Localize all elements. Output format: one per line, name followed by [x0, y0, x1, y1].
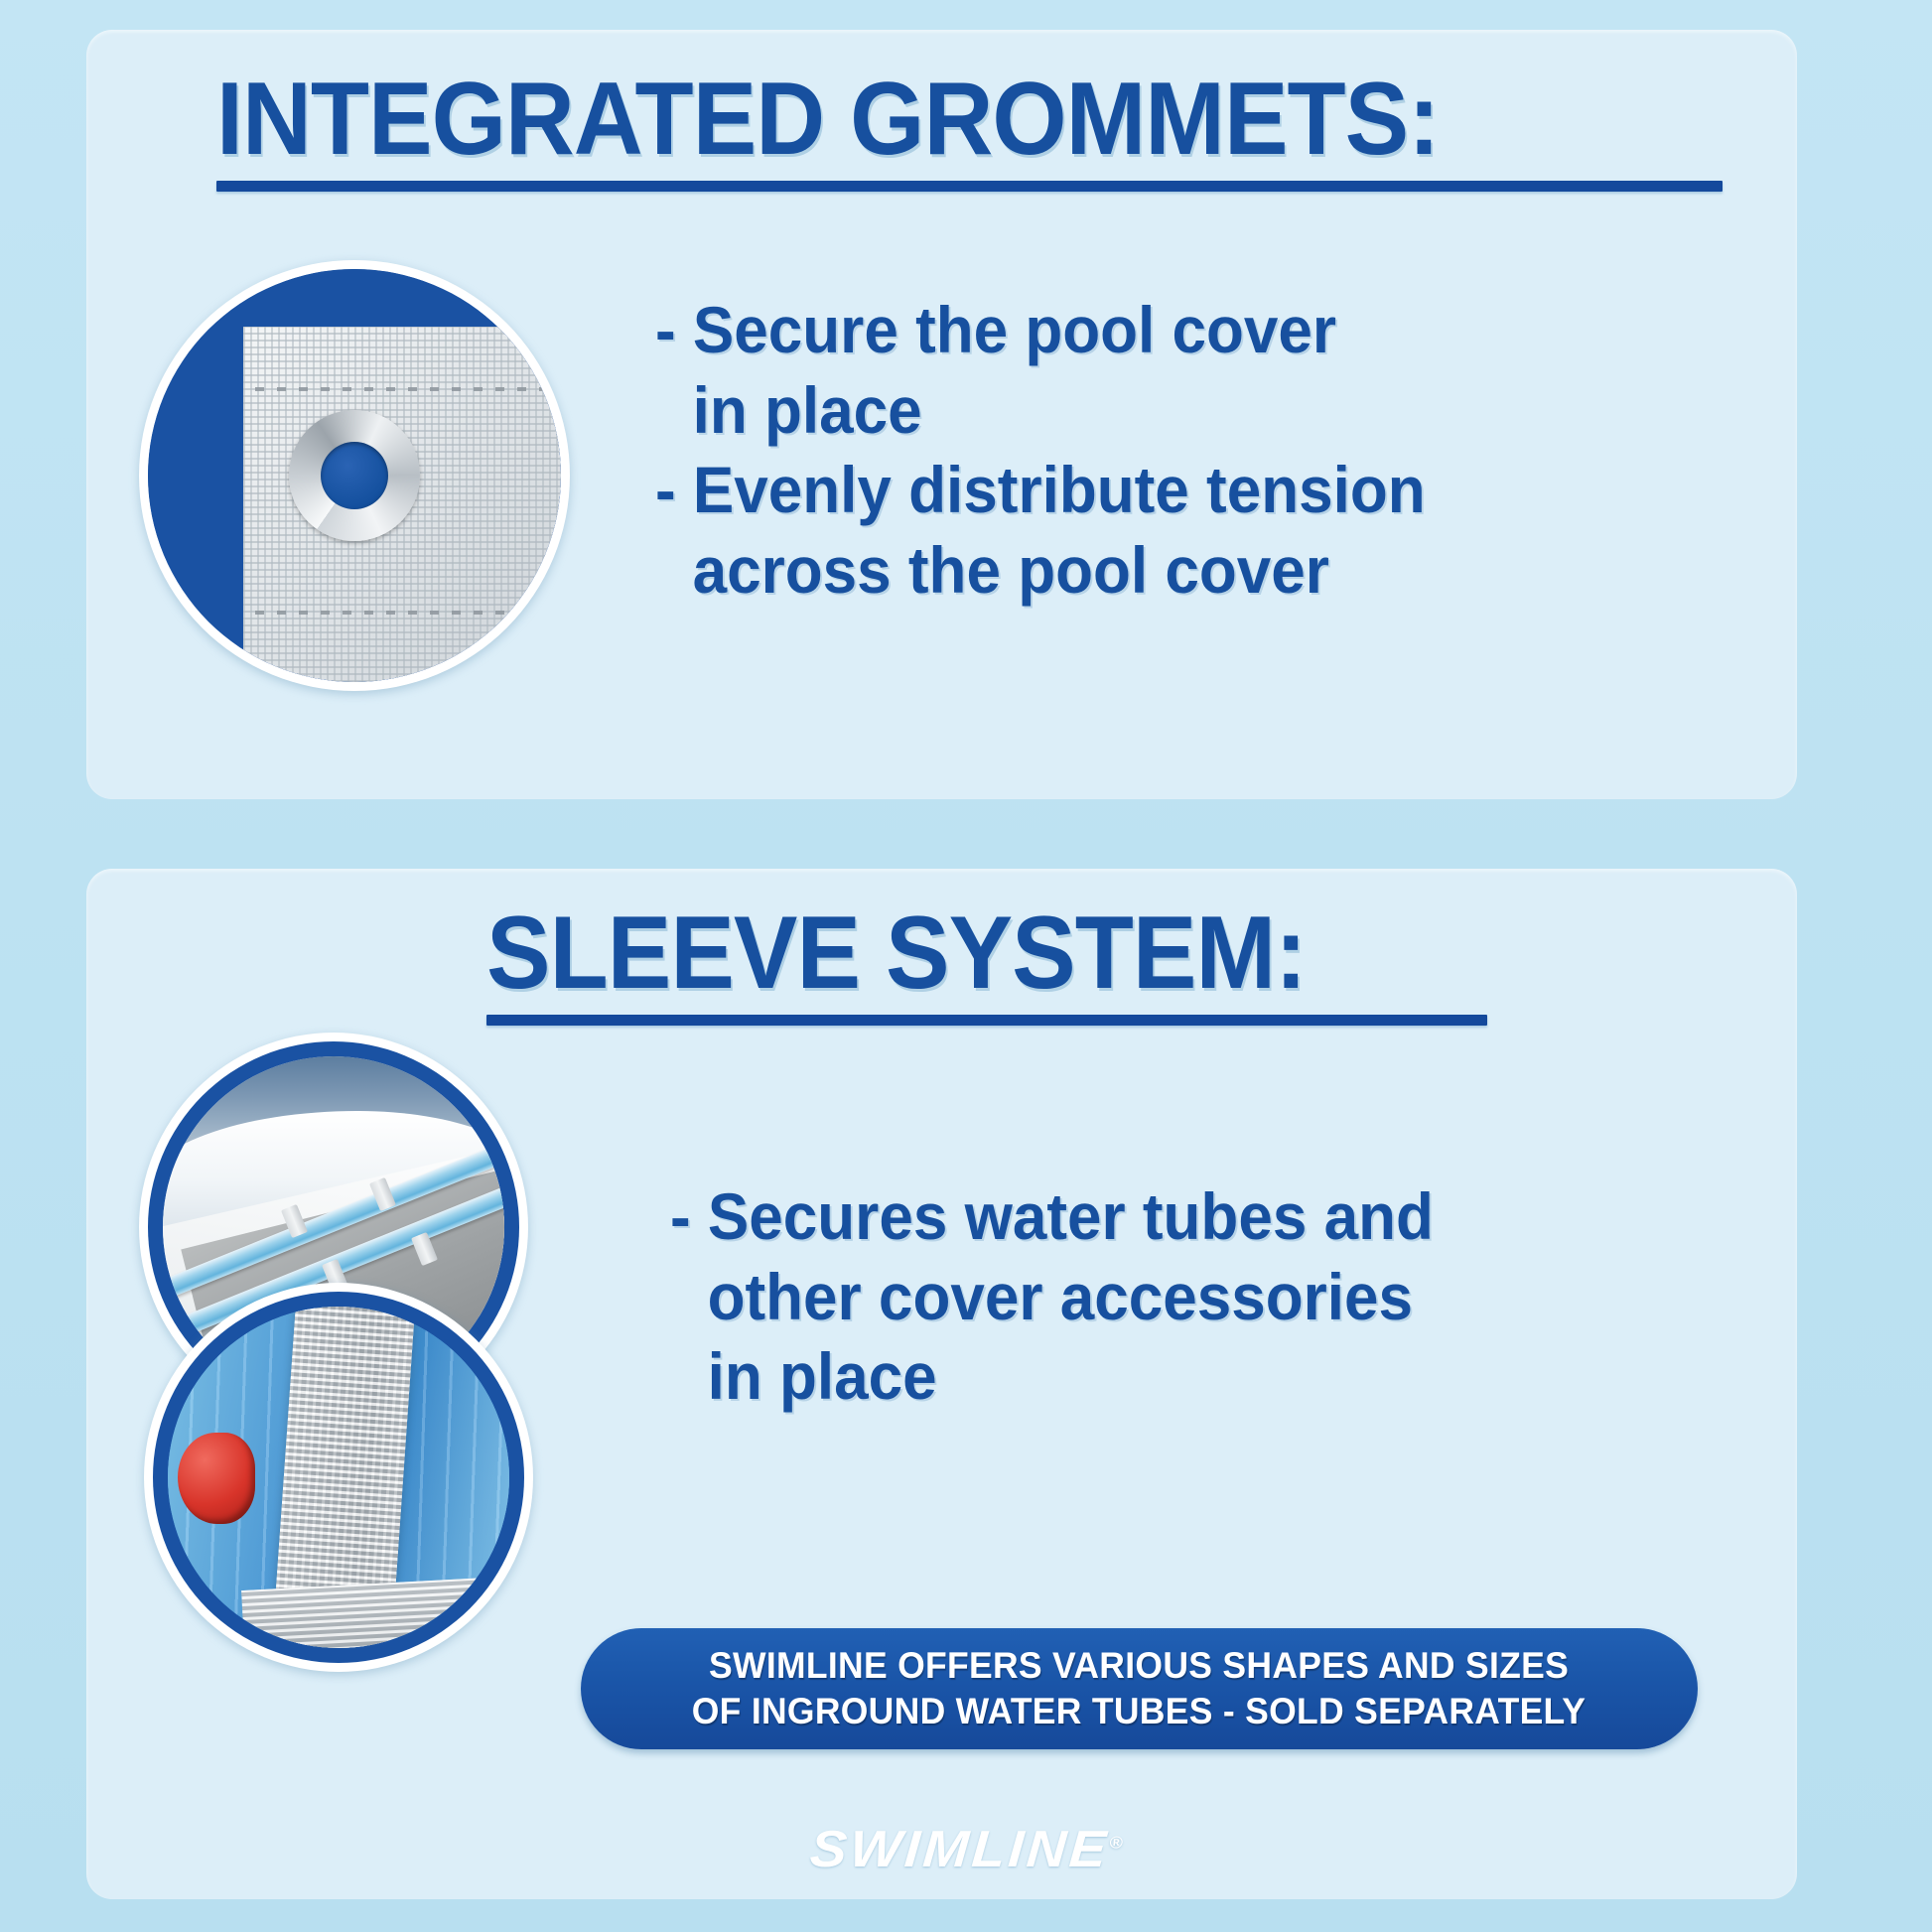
poster-root: INTEGRATED GROMMETS: - Secure the pool c… — [0, 0, 1932, 1932]
photo-ring — [153, 1292, 524, 1663]
bullet-line: - Secure the pool cover — [655, 290, 1663, 370]
bullet-list-grommets: - Secure the pool cover in place - Evenl… — [655, 290, 1663, 610]
bullet-line: - Evenly distribute tension — [655, 450, 1663, 530]
red-fill-cap — [178, 1433, 255, 1524]
bullet-list-sleeve: - Secures water tubes and other cover ac… — [670, 1176, 1659, 1417]
title-underline-grommets — [216, 181, 1723, 192]
cta-line-1: SWIMLINE OFFERS VARIOUS SHAPES AND SIZES — [709, 1643, 1569, 1689]
metal-grommet-ring — [289, 410, 420, 541]
bullet-line: other cover accessories — [670, 1257, 1659, 1337]
section-title-grommets: INTEGRATED GROMMETS: — [216, 68, 1440, 171]
bullet-line: - Secures water tubes and — [670, 1176, 1659, 1257]
photo-ring — [148, 269, 561, 682]
photo-water-tube-sleeve — [144, 1283, 533, 1672]
section-title-sleeve: SLEEVE SYSTEM: — [486, 901, 1306, 1005]
grommet-hole — [321, 442, 388, 509]
scene-water-tube — [168, 1307, 509, 1648]
cta-banner: SWIMLINE OFFERS VARIOUS SHAPES AND SIZES… — [581, 1628, 1698, 1749]
photo-media — [148, 269, 561, 682]
photo-grommet-closeup — [139, 260, 570, 691]
title-underline-sleeve — [486, 1015, 1487, 1026]
bullet-line: in place — [655, 370, 1663, 451]
stitch-row-top — [255, 387, 548, 391]
bullet-line: across the pool cover — [655, 530, 1663, 611]
cta-line-2: OF INGROUND WATER TUBES - SOLD SEPARATEL… — [692, 1689, 1587, 1734]
stitch-row-bottom — [255, 611, 548, 615]
bullet-line: in place — [670, 1336, 1659, 1417]
photo-media — [168, 1307, 509, 1648]
